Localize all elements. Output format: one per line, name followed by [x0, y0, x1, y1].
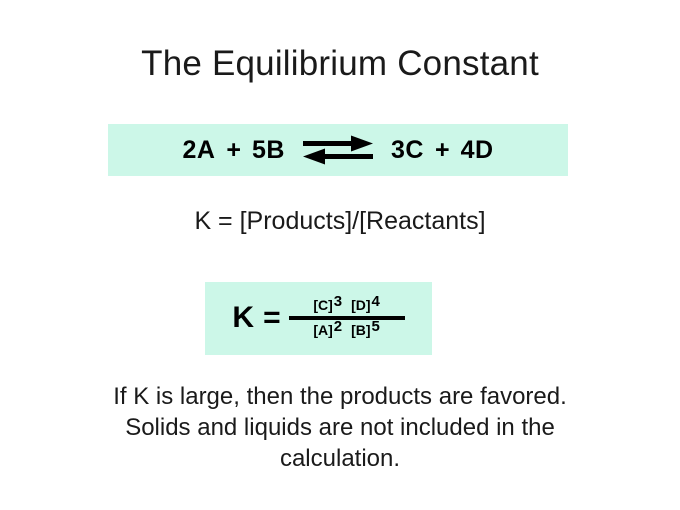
reaction-equation: 2A + 5B 3C + 4D [182, 133, 493, 167]
reaction-plus-2: + [424, 136, 461, 165]
denominator-term-2: [B] 5 [351, 321, 380, 340]
page-title: The Equilibrium Constant [0, 44, 680, 84]
equals-sign: = [254, 303, 289, 333]
numerator-species-1: [C] [313, 296, 332, 315]
numerator-species-2: [D] [351, 296, 370, 315]
k-expression: K = [C] 3 [D] 4 [A] [232, 296, 404, 340]
k-definition-text: K = [Products]/[Reactants] [0, 207, 680, 236]
numerator-exponent-1: 3 [334, 294, 342, 309]
reactant-1: 2A [182, 136, 215, 165]
numerator-term-2: [D] 4 [351, 296, 380, 315]
denominator-term-1: [A] 2 [313, 321, 342, 340]
note-line-1: If K is large, then the products are fav… [0, 381, 680, 412]
reactant-2: 5B [252, 136, 285, 165]
numerator-exponent-2: 4 [372, 294, 380, 309]
k-expression-box: K = [C] 3 [D] 4 [A] [205, 282, 432, 355]
slide-canvas: The Equilibrium Constant 2A + 5B 3C + 4D [0, 0, 680, 510]
product-2: 4D [461, 136, 494, 165]
denominator-exponent-2: 5 [372, 319, 380, 334]
fraction-numerator: [C] 3 [D] 4 [313, 296, 380, 316]
k-symbol: K [232, 303, 254, 333]
numerator-term-1: [C] 3 [313, 296, 342, 315]
explanatory-note: If K is large, then the products are fav… [0, 381, 680, 474]
fraction-denominator: [A] 2 [B] 5 [313, 320, 380, 340]
denominator-exponent-1: 2 [334, 319, 342, 334]
product-1: 3C [391, 136, 424, 165]
denominator-species-2: [B] [351, 321, 370, 340]
equilibrium-arrow-icon [301, 133, 375, 167]
reaction-equation-box: 2A + 5B 3C + 4D [108, 124, 568, 176]
note-line-2: Solids and liquids are not included in t… [0, 412, 680, 443]
denominator-species-1: [A] [313, 321, 332, 340]
reaction-plus-1: + [215, 136, 252, 165]
k-fraction: [C] 3 [D] 4 [A] 2 [289, 296, 405, 340]
note-line-3: calculation. [0, 443, 680, 474]
